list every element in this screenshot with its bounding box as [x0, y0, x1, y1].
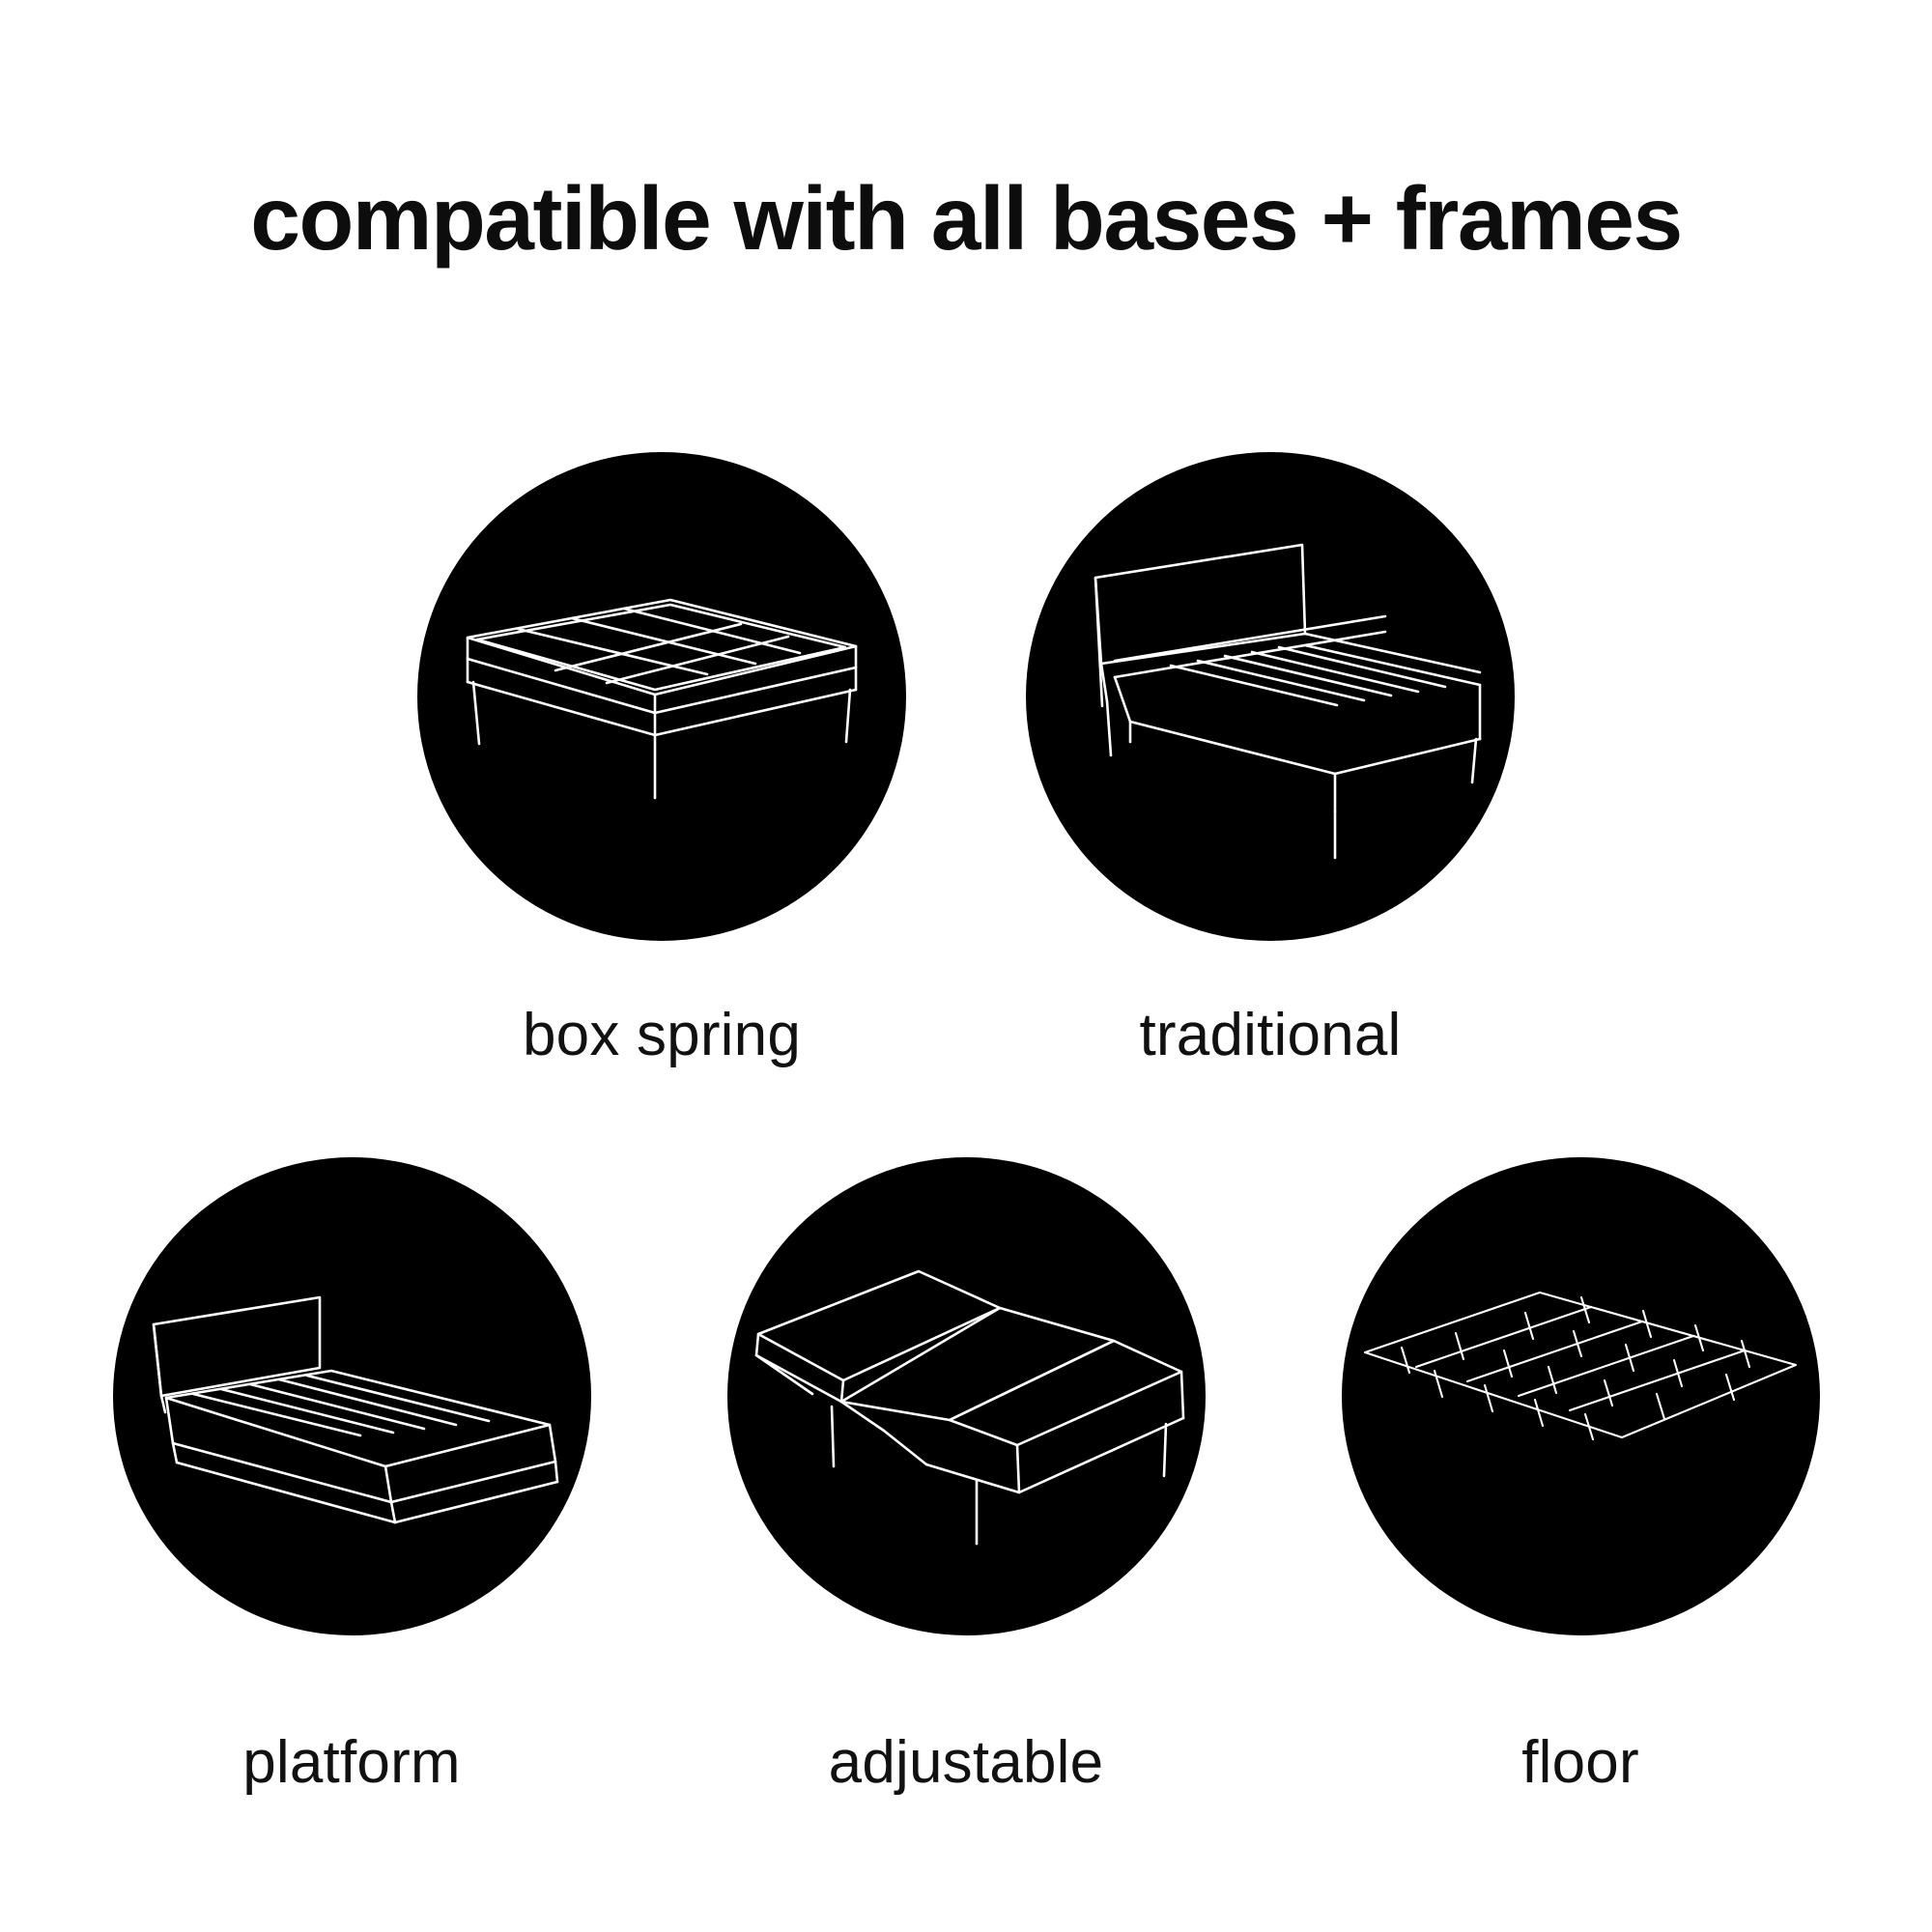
wood-floor-icon [1342, 1157, 1820, 1635]
tile-floor: floor [1342, 1157, 1820, 1797]
box-spring-bed-base-icon [417, 452, 906, 941]
floor-circle [1342, 1157, 1820, 1635]
traditional-bed-frame-icon [1026, 452, 1515, 941]
box-spring-circle [417, 452, 906, 941]
adjustable-bed-base-icon [727, 1157, 1206, 1635]
compatibility-graphic: compatible with all bases + frames [0, 0, 1932, 1932]
tile-box-spring: box spring [417, 452, 906, 1069]
platform-bed-base-icon [113, 1157, 591, 1635]
platform-circle [113, 1157, 591, 1635]
bases-row-top: box spring [0, 452, 1932, 1069]
tile-label-platform: platform [242, 1728, 461, 1797]
tile-label-floor: floor [1521, 1728, 1639, 1797]
tile-platform: platform [113, 1157, 591, 1797]
bases-row-bottom: platform [0, 1157, 1932, 1797]
tile-adjustable: adjustable [727, 1157, 1206, 1797]
tile-traditional: traditional [1026, 452, 1515, 1069]
tile-label-adjustable: adjustable [829, 1728, 1104, 1797]
page-title: compatible with all bases + frames [0, 172, 1932, 267]
tile-label-box-spring: box spring [523, 1001, 801, 1069]
adjustable-circle [727, 1157, 1206, 1635]
tile-label-traditional: traditional [1139, 1001, 1401, 1069]
traditional-circle [1026, 452, 1515, 941]
